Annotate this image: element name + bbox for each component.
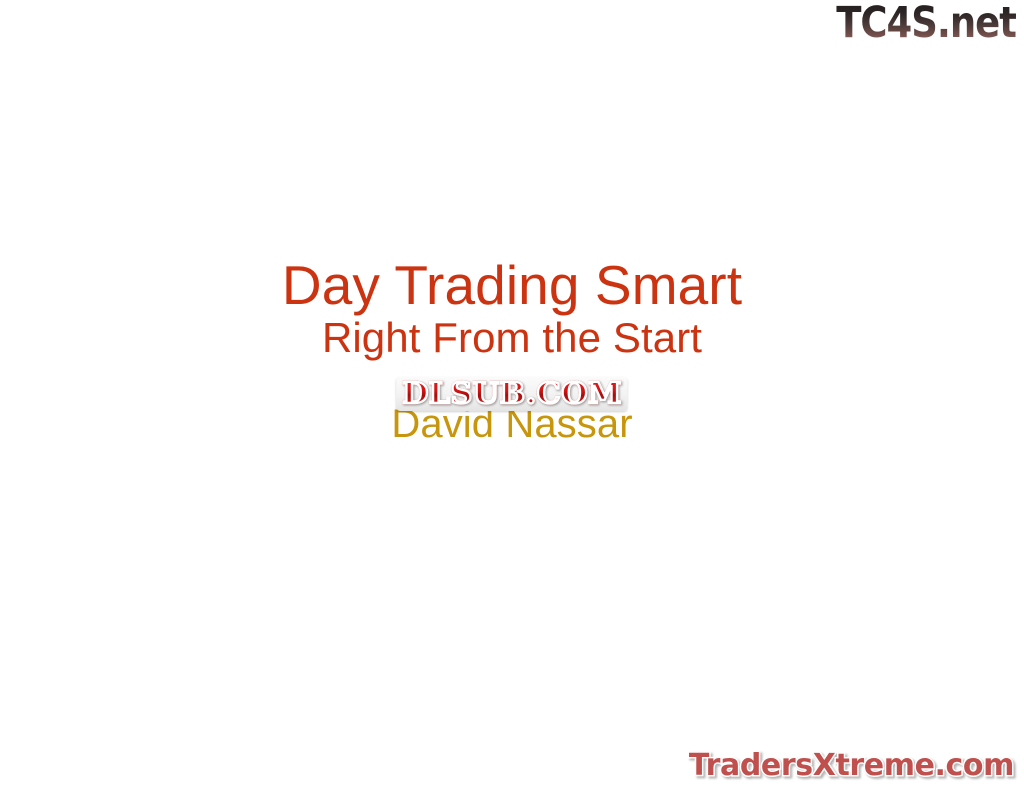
dlsub-watermark: DLSUB.COM bbox=[396, 377, 627, 411]
tradersxtreme-watermark-text: TradersXtreme.com bbox=[689, 751, 1014, 781]
slide-sub-title: Right From the Start bbox=[0, 316, 1024, 361]
tc4s-brand-logo: TC4S.net bbox=[807, 2, 1016, 45]
presentation-slide: TC4S.net Day Trading Smart Right From th… bbox=[0, 0, 1024, 791]
title-block: Day Trading Smart Right From the Start D… bbox=[0, 256, 1024, 445]
tc4s-brand-logo-text: TC4S.net bbox=[836, 2, 1016, 45]
tradersxtreme-watermark: TradersXtreme.com bbox=[689, 751, 1014, 781]
dlsub-watermark-text: DLSUB.COM bbox=[402, 379, 622, 408]
slide-main-title: Day Trading Smart bbox=[0, 256, 1024, 314]
